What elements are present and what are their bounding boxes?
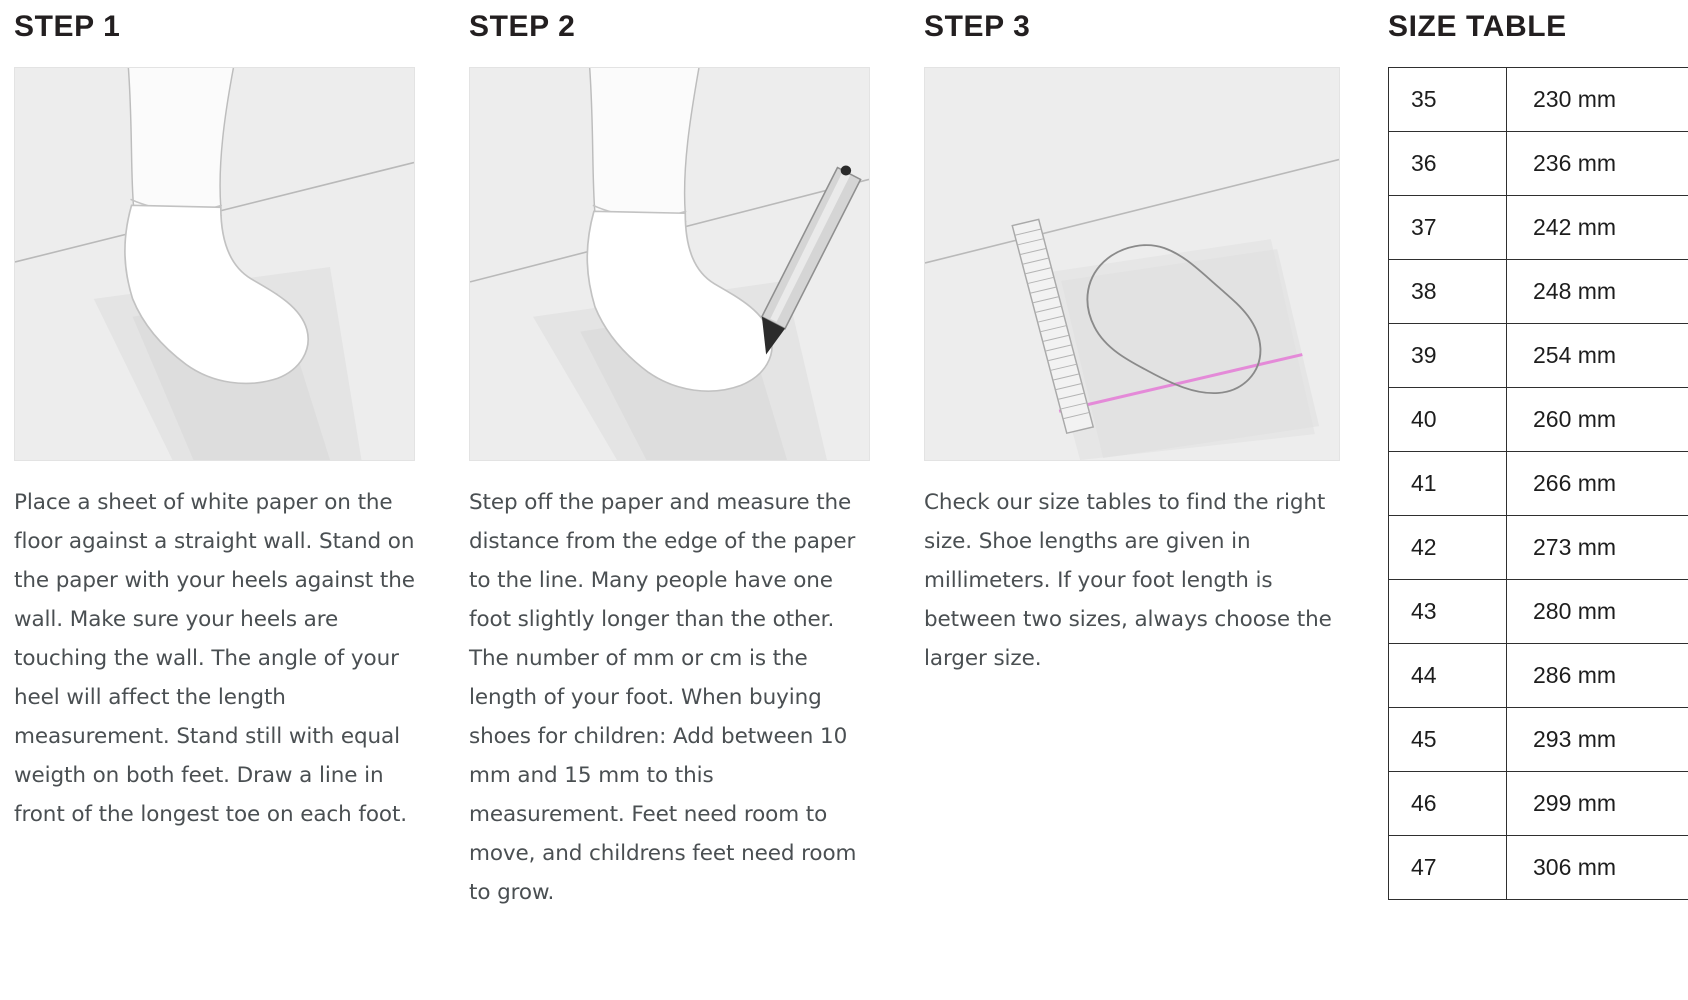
length-cell: 236 mm xyxy=(1507,132,1688,196)
size-table: 35 230 mm 36 236 mm 37 242 mm 38 248 mm xyxy=(1388,67,1688,900)
step-column-2: STEP 2 xyxy=(455,10,910,912)
length-cell: 306 mm xyxy=(1507,836,1688,900)
table-row: 42 273 mm xyxy=(1389,516,1688,580)
length-cell: 260 mm xyxy=(1507,388,1688,452)
eu-size-cell: 45 xyxy=(1389,708,1507,772)
table-row: 37 242 mm xyxy=(1389,196,1688,260)
size-guide-page: STEP 1 xyxy=(0,0,1688,1000)
eu-size-cell: 46 xyxy=(1389,772,1507,836)
step-column-3: STEP 3 xyxy=(910,10,1380,678)
step-1-illustration xyxy=(14,67,415,461)
length-cell: 280 mm xyxy=(1507,580,1688,644)
step-2-title: STEP 2 xyxy=(469,10,870,43)
table-row: 35 230 mm xyxy=(1389,68,1688,132)
outline-and-ruler-icon xyxy=(925,68,1339,460)
eu-size-cell: 43 xyxy=(1389,580,1507,644)
length-cell: 286 mm xyxy=(1507,644,1688,708)
eu-size-cell: 40 xyxy=(1389,388,1507,452)
length-cell: 230 mm xyxy=(1507,68,1688,132)
length-cell: 299 mm xyxy=(1507,772,1688,836)
eu-size-cell: 36 xyxy=(1389,132,1507,196)
length-cell: 293 mm xyxy=(1507,708,1688,772)
eu-size-cell: 37 xyxy=(1389,196,1507,260)
table-row: 41 266 mm xyxy=(1389,452,1688,516)
eu-size-cell: 41 xyxy=(1389,452,1507,516)
eu-size-cell: 38 xyxy=(1389,260,1507,324)
length-cell: 273 mm xyxy=(1507,516,1688,580)
table-row: 36 236 mm xyxy=(1389,132,1688,196)
table-row: 45 293 mm xyxy=(1389,708,1688,772)
eu-size-cell: 44 xyxy=(1389,644,1507,708)
step-2-text: Step off the paper and measure the dista… xyxy=(469,483,870,912)
table-row: 39 254 mm xyxy=(1389,324,1688,388)
foot-against-wall-icon xyxy=(15,68,414,460)
step-1-title: STEP 1 xyxy=(14,10,415,43)
step-2-illustration xyxy=(469,67,870,461)
length-cell: 248 mm xyxy=(1507,260,1688,324)
eu-size-cell: 35 xyxy=(1389,68,1507,132)
length-cell: 254 mm xyxy=(1507,324,1688,388)
eu-size-cell: 39 xyxy=(1389,324,1507,388)
eu-size-cell: 47 xyxy=(1389,836,1507,900)
size-table-title: SIZE TABLE xyxy=(1388,10,1680,43)
columns-grid: STEP 1 xyxy=(0,10,1688,912)
table-row: 47 306 mm xyxy=(1389,836,1688,900)
size-table-body: 35 230 mm 36 236 mm 37 242 mm 38 248 mm xyxy=(1389,68,1688,900)
foot-with-pencil-icon xyxy=(470,68,869,460)
table-row: 46 299 mm xyxy=(1389,772,1688,836)
length-cell: 242 mm xyxy=(1507,196,1688,260)
length-cell: 266 mm xyxy=(1507,452,1688,516)
size-table-column: SIZE TABLE 35 230 mm 36 236 mm 37 242 mm xyxy=(1380,10,1680,900)
table-row: 43 280 mm xyxy=(1389,580,1688,644)
table-row: 38 248 mm xyxy=(1389,260,1688,324)
step-column-1: STEP 1 xyxy=(0,10,455,834)
step-3-text: Check our size tables to find the right … xyxy=(924,483,1340,678)
eu-size-cell: 42 xyxy=(1389,516,1507,580)
step-3-title: STEP 3 xyxy=(924,10,1340,43)
table-row: 40 260 mm xyxy=(1389,388,1688,452)
table-row: 44 286 mm xyxy=(1389,644,1688,708)
step-1-text: Place a sheet of white paper on the floo… xyxy=(14,483,415,834)
step-3-illustration xyxy=(924,67,1340,461)
